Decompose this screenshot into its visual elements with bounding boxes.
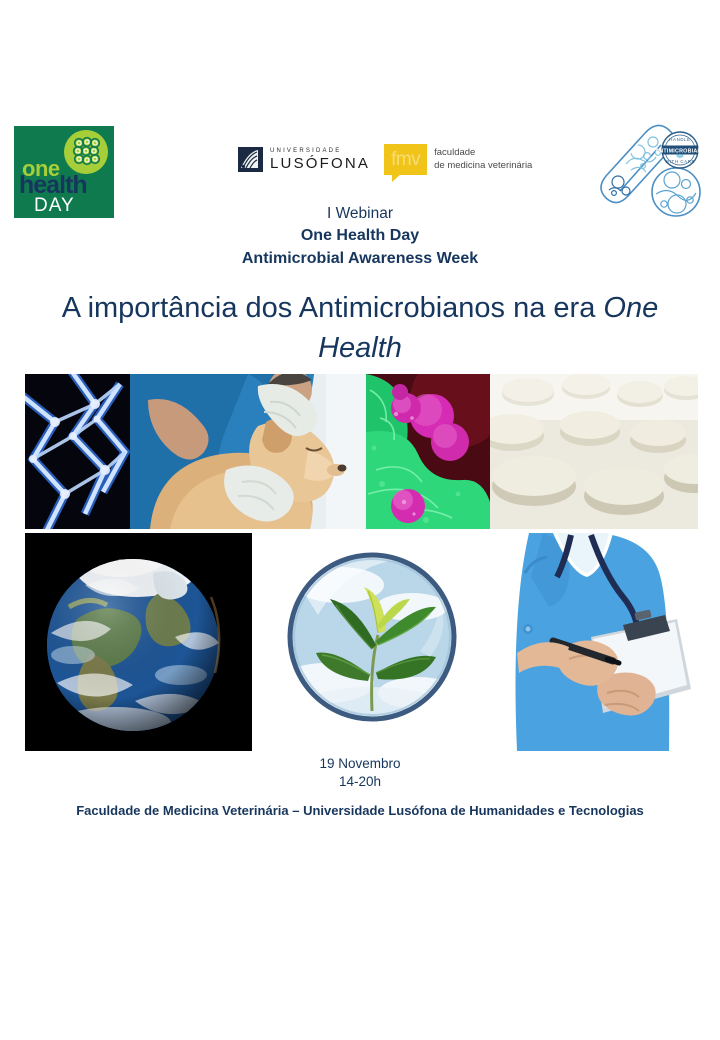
image-white-pills — [490, 374, 698, 529]
fmv-line-1: faculdade — [434, 147, 532, 160]
image-grid-bottom-row — [25, 533, 698, 751]
subtitle-line-webinar: I Webinar — [0, 203, 720, 225]
fmv-acronym: fmv — [391, 149, 420, 171]
svg-text:HANDLE: HANDLE — [669, 137, 690, 142]
svg-text:ANTIMICROBIALS: ANTIMICROBIALS — [655, 148, 705, 154]
antimicrobials-stamp-badge: ANTIMICROBIALS HANDLE WITH CARE — [655, 132, 705, 168]
fmv-speech-bubble-icon: fmv — [384, 144, 427, 175]
one-health-day-cell-cluster-icon — [64, 130, 108, 174]
event-time: 14-20h — [0, 773, 720, 791]
image-clinician-clipboard — [495, 533, 698, 751]
page-title-text: A importância dos Antimicrobianos na era — [62, 292, 604, 324]
lusofona-wordmark: UNIVERSIDADE LUSÓFONA — [270, 148, 370, 171]
event-date: 19 Novembro — [0, 755, 720, 773]
event-subtitle-block: I Webinar One Health Day Antimicrobial A… — [0, 203, 720, 270]
image-bacteria-sem — [366, 374, 490, 529]
fmv-line-2: de medicina veterinária — [434, 160, 532, 173]
event-footer: 19 Novembro 14-20h Faculdade de Medicina… — [0, 755, 720, 820]
fmv-logo: fmv faculdade de medicina veterinária — [384, 144, 532, 175]
subtitle-line-one-health-day: One Health Day — [0, 225, 720, 248]
event-venue: Faculdade de Medicina Veterinária – Univ… — [0, 802, 720, 820]
poster-canvas: one health DAY UNIVERSIDADE — [0, 0, 720, 1040]
svg-text:WITH CARE: WITH CARE — [665, 159, 695, 164]
institution-logos: UNIVERSIDADE LUSÓFONA fmv faculdade de m… — [238, 144, 532, 175]
fmv-wordmark: faculdade de medicina veterinária — [434, 147, 532, 173]
universidade-lusofona-logo: UNIVERSIDADE LUSÓFONA — [238, 147, 370, 172]
lusofona-crest-icon — [238, 147, 263, 172]
lusofona-line-top: UNIVERSIDADE — [270, 148, 370, 154]
image-leaf-in-sphere — [252, 533, 495, 751]
page-title: A importância dos Antimicrobianos na era… — [60, 288, 660, 368]
lusofona-line-main: LUSÓFONA — [270, 156, 370, 171]
image-grid-top-row — [25, 374, 698, 529]
subtitle-line-awareness-week: Antimicrobial Awareness Week — [0, 248, 720, 271]
image-molecular-blue — [25, 374, 130, 529]
image-earth-from-space — [25, 533, 252, 751]
image-vet-with-dog — [130, 374, 366, 529]
